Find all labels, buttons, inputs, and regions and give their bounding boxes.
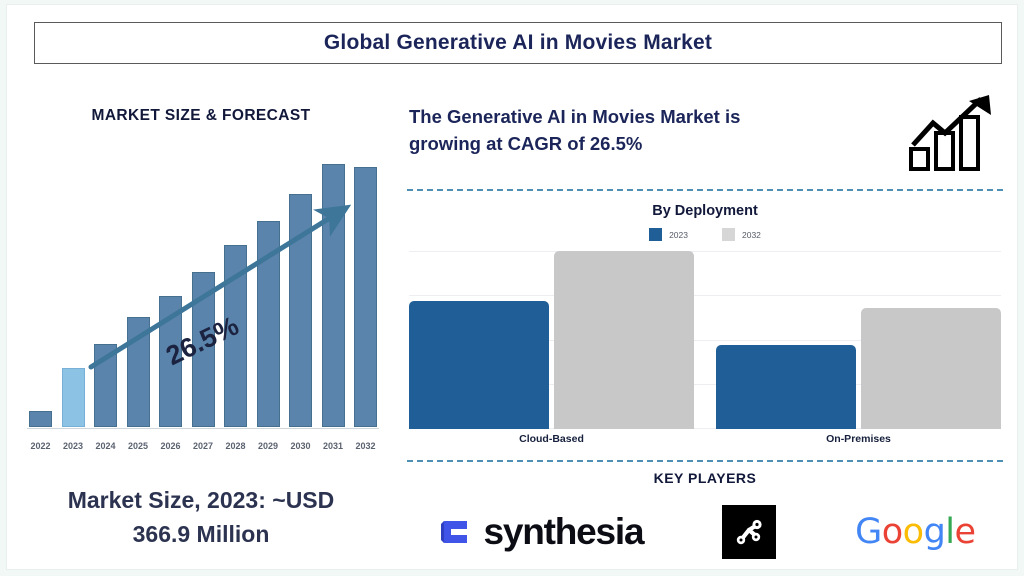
runway-node-icon (732, 515, 766, 549)
deployment-bar-2032 (554, 251, 694, 429)
forecast-bars-row (29, 159, 377, 427)
deployment-chart-title: By Deployment (395, 203, 1015, 219)
year-label: 2031 (322, 441, 345, 451)
synthesia-mark-icon (434, 512, 474, 552)
legend-swatch (722, 228, 735, 241)
cagr-statement-line-2: growing at CAGR of 26.5% (409, 130, 879, 157)
forecast-bar-2026 (159, 159, 182, 427)
cagr-statement: The Generative AI in Movies Market is gr… (409, 103, 879, 157)
forecast-bar-2023 (62, 159, 85, 427)
bar (257, 221, 280, 427)
forecast-bar-2030 (289, 159, 312, 427)
forecast-bar-2025 (127, 159, 150, 427)
deployment-category-axis: Cloud-BasedOn-Premises (409, 433, 1001, 445)
legend-label: 2023 (669, 230, 688, 240)
bar (127, 317, 150, 427)
market-size-panel: MARKET SIZE & FORECAST 20222023202420252… (15, 85, 387, 570)
key-players-title: KEY PLAYERS (395, 470, 1015, 486)
deployment-category-label: Cloud-Based (409, 433, 694, 445)
page-title-box: Global Generative AI in Movies Market (34, 22, 1002, 64)
legend-swatch (649, 228, 662, 241)
year-label: 2032 (354, 441, 377, 451)
deployment-plot-area (409, 251, 1001, 429)
forecast-year-axis: 2022202320242025202620272028202920302031… (29, 441, 377, 451)
bar (29, 411, 52, 427)
page-title: Global Generative AI in Movies Market (324, 31, 712, 55)
forecast-bar-2031 (322, 159, 345, 427)
year-label: 2023 (62, 441, 85, 451)
forecast-bar-2024 (94, 159, 117, 427)
deployment-group-Cloud-Based (409, 251, 694, 429)
market-details-panel: The Generative AI in Movies Market is gr… (395, 85, 1015, 570)
growth-bar-chart-arrow-icon (907, 93, 999, 171)
bar (289, 194, 312, 427)
synthesia-logo: synthesia (434, 511, 643, 553)
google-wordmark-icon: Google (855, 512, 975, 552)
player-synthesia[interactable]: synthesia (434, 502, 643, 562)
year-label: 2027 (192, 441, 215, 451)
infographic-canvas: Global Generative AI in Movies Market MA… (0, 0, 1024, 576)
deployment-legend: 20232032 (395, 228, 1015, 241)
legend-item-2023[interactable]: 2023 (649, 228, 688, 241)
forecast-bar-2027 (192, 159, 215, 427)
market-size-line-2: 366.9 Million (15, 517, 387, 551)
year-label: 2026 (159, 441, 182, 451)
deployment-bar-2032 (861, 308, 1001, 429)
legend-label: 2032 (742, 230, 761, 240)
year-label: 2025 (127, 441, 150, 451)
bar (94, 344, 117, 427)
divider-bottom (407, 460, 1003, 462)
year-label: 2024 (94, 441, 117, 451)
synthesia-wordmark: synthesia (483, 511, 643, 553)
market-forecast-chart: 2022202320242025202620272028202920302031… (23, 145, 379, 465)
market-size-caption: Market Size, 2023: ~USD 366.9 Million (15, 483, 387, 551)
year-label: 2029 (257, 441, 280, 451)
deployment-bar-2023 (409, 301, 549, 429)
key-players-row: synthesia (395, 497, 1015, 567)
bar (62, 368, 85, 427)
forecast-bar-2022 (29, 159, 52, 427)
player-google[interactable]: Google (855, 502, 975, 562)
bar (354, 167, 377, 427)
cagr-statement-line-1: The Generative AI in Movies Market is (409, 103, 879, 130)
player-runway[interactable] (722, 502, 776, 562)
year-label: 2028 (224, 441, 247, 451)
deployment-group-On-Premises (716, 251, 1001, 429)
runway-logo (722, 505, 776, 559)
market-size-heading: MARKET SIZE & FORECAST (15, 107, 387, 125)
deployment-bar-2023 (716, 345, 856, 429)
forecast-bar-2028 (224, 159, 247, 427)
bar (322, 164, 345, 427)
year-label: 2022 (29, 441, 52, 451)
legend-item-2032[interactable]: 2032 (722, 228, 761, 241)
market-size-line-1: Market Size, 2023: ~USD (15, 483, 387, 517)
forecast-bar-2032 (354, 159, 377, 427)
divider-top (407, 189, 1003, 191)
year-label: 2030 (289, 441, 312, 451)
forecast-axis-line (27, 428, 379, 429)
infographic-frame: Global Generative AI in Movies Market MA… (7, 5, 1017, 569)
deployment-bar-groups (409, 251, 1001, 429)
deployment-category-label: On-Premises (716, 433, 1001, 445)
forecast-bar-2029 (257, 159, 280, 427)
